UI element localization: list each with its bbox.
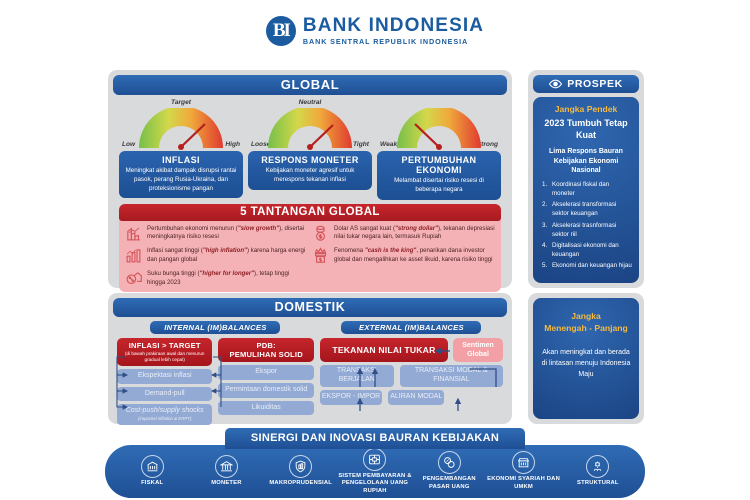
jangka-menengah-desc: Akan meningkat dan berada di lintasan me… — [541, 348, 631, 381]
challenges-grid: Pertumbuhan ekonomi menurun ("slow growt… — [119, 221, 501, 288]
pillar-label: PENGEMBANGAN PASAR UANG — [412, 476, 486, 491]
prospek-title-bar: PROSPEK — [533, 75, 639, 93]
sinergi-section: SINERGI DAN INOVASI BAURAN KEBIJAKAN FIS… — [105, 428, 645, 498]
jangka-menengah-label: Jangka Menengah - Panjang — [541, 310, 631, 334]
coins-percent-icon — [438, 451, 461, 474]
pillar-struktural[interactable]: STRUKTURAL — [561, 455, 635, 488]
domestik-section-title: DOMESTIK — [113, 298, 507, 317]
list-item: 4.Digitalisasi ekonomi dan keuangan — [542, 242, 633, 260]
gauge-pertumbuhan-ekonomi: Weak Strong PERTUMBUHAN EKONOMI Melambat… — [377, 98, 501, 200]
prospek-short-term-card: Jangka Pendek 2023 Tumbuh Tetap Kuat Lim… — [533, 97, 639, 283]
jangka-pendek-sub: Lima Respons Bauran Kebijakan Ekonomi Na… — [539, 147, 633, 175]
challenge-text: Dolar AS sangat kuat ("strong dollar"), … — [334, 225, 495, 243]
pillar-label: MONETER — [211, 480, 241, 488]
inflasi-target-title: INFLASI > TARGET — [120, 341, 209, 350]
challenge-item: Fenomena "cash is the king", penarikan d… — [312, 247, 495, 265]
gauge-dial-icon — [389, 108, 489, 150]
challenge-text: Pertumbuhan ekonomi menurun ("slow growt… — [147, 225, 308, 243]
list-item: 5.Ekonomi dan keuangan hijau — [542, 262, 633, 271]
info-card-desc: Melambat disertai risiko resesi di beber… — [382, 177, 496, 195]
pillar-sistem-pembayaran[interactable]: SISTEM PEMBAYARAN & PENGELOLAAN UANG RUP… — [338, 448, 412, 496]
aliran-modal-box: ALIRAN MODAL — [388, 390, 444, 405]
list-item: 2.Akselerasi transformasi sektor keuanga… — [542, 201, 633, 219]
jangka-pendek-label: Jangka Pendek — [539, 104, 633, 114]
bank-indonesia-logo-icon: BI — [266, 16, 296, 46]
list-item: 3.Akselerasi trasnformasi sektor riil — [542, 222, 633, 240]
external-bottom-row: EKSPOR - IMPOR ALIRAN MODAL — [320, 390, 503, 405]
pillar-makroprudensial[interactable]: MAKROPRUDENSIAL — [264, 455, 338, 488]
info-card-desc: Kebijakan moneter agresif untuk merespon… — [253, 167, 367, 185]
global-challenges-panel: 5 TANTANGAN GLOBAL Pertumbuhan ekonomi m… — [119, 204, 501, 292]
driver-ekspor: Ekspor — [218, 365, 313, 380]
sentimen-global-box: Sentimen Global — [453, 338, 503, 362]
jangka-menengah-label-line1: Jangka — [541, 310, 631, 322]
gauge-top-label: Neutral — [299, 98, 322, 108]
mosque-market-icon — [512, 451, 535, 474]
pillar-ekonomi-syariah[interactable]: EKONOMI SYARIAH DAN UMKM — [486, 451, 560, 491]
external-band-label: EXTERNAL (IM)BALANCES — [341, 321, 481, 334]
internal-imbalances-group: INTERNAL (IM)BALANCES INFLASI > TARGET (… — [117, 321, 314, 425]
challenge-item: Pertumbuhan ekonomi menurun ("slow growt… — [125, 225, 308, 243]
jangka-pendek-headline: 2023 Tumbuh Tetap Kuat — [539, 117, 633, 141]
pillar-pengembangan-pasar-uang[interactable]: PENGEMBANGAN PASAR UANG — [412, 451, 486, 491]
info-card-title: PERTUMBUHAN EKONOMI — [382, 155, 496, 175]
pdb-title-line2: PEMULIHAN SOLID — [221, 350, 310, 359]
driver-demand-pull: Demand-pull — [117, 387, 212, 402]
brand-name: BANK INDONESIA — [303, 16, 484, 35]
internal-col-inflasi: INFLASI > TARGET (di bawah prakiraan awa… — [117, 338, 212, 425]
internal-col-pdb: PDB: PEMULIHAN SOLID Ekspor Permintaan d… — [218, 338, 313, 425]
prospek-title-label: PROSPEK — [567, 75, 623, 93]
driver-cost-push: Cost-push/supply shocks (imported inflat… — [117, 404, 212, 424]
jangka-menengah-panel: Jangka Menengah - Panjang Akan meningkat… — [528, 293, 644, 424]
challenge-text: Inflasi sangat tinggi ("high inflation")… — [147, 247, 308, 265]
brand-tagline: BANK SENTRAL REPUBLIK INDONESIA — [303, 37, 468, 46]
rising-bars-icon — [125, 247, 142, 264]
internal-band-label: INTERNAL (IM)BALANCES — [150, 321, 280, 334]
external-imbalances-group: EXTERNAL (IM)BALANCES TEKANAN NILAI TUKA… — [320, 321, 503, 425]
pillar-label: MAKROPRUDENSIAL — [269, 480, 332, 488]
respons-bauran-list: 1.Koordinasi fiskal dan moneter 2.Aksele… — [539, 181, 633, 272]
global-gauges: Target Low High — [113, 95, 507, 200]
pdb-box: PDB: PEMULIHAN SOLID — [218, 338, 313, 362]
challenges-title: 5 TANTANGAN GLOBAL — [119, 204, 501, 221]
pillar-fiskal[interactable]: FISKAL — [115, 455, 189, 488]
inflasi-target-box: INFLASI > TARGET (di bawah prakiraan awa… — [117, 338, 212, 366]
info-card-inflasi: INFLASI Meningkat akibat dampak disrupsi… — [119, 151, 243, 198]
jangka-menengah-card: Jangka Menengah - Panjang Akan meningkat… — [533, 298, 639, 419]
info-card-desc: Meningkat akibat dampak disrupsi rantai … — [124, 167, 238, 193]
percent-house-icon — [125, 270, 142, 287]
info-card-title: RESPONS MONETER — [253, 155, 367, 165]
shield-buildings-icon — [289, 455, 312, 478]
external-top-row: TEKANAN NILAI TUKAR Sentimen Global — [320, 338, 503, 362]
gauge-dial-icon — [260, 108, 360, 150]
global-panel: GLOBAL Target Low — [108, 70, 512, 288]
driver-ekspektasi-inflasi: Ekspektasi inflasi — [117, 369, 212, 384]
internal-columns: INFLASI > TARGET (di bawah prakiraan awa… — [117, 338, 314, 425]
declining-chart-icon — [125, 225, 142, 242]
jangka-menengah-label-line2: Menengah - Panjang — [541, 322, 631, 334]
info-card-title: INFLASI — [124, 155, 238, 165]
domestik-panel: DOMESTIK INTERNAL (IM)BALANCES INFLASI >… — [108, 293, 512, 424]
pillar-label: EKONOMI SYARIAH DAN UMKM — [486, 476, 560, 491]
challenge-item: Inflasi sangat tinggi ("high inflation")… — [125, 247, 308, 265]
driver-likuiditas: Likuiditas — [218, 401, 313, 416]
pillar-label: SISTEM PEMBAYARAN & PENGELOLAAN UANG RUP… — [338, 473, 412, 496]
prospek-panel: PROSPEK Jangka Pendek 2023 Tumbuh Tetap … — [528, 70, 644, 288]
sinergi-pillars-bar: FISKAL MONETER MAKROPRUDENSIAL — [105, 445, 645, 498]
inflasi-target-sub: (di bawah prakiraan awal dan menurun gra… — [120, 351, 209, 363]
challenge-text: Suku bunga tinggi ("higher for longer"),… — [147, 270, 308, 288]
dollar-stack-icon — [312, 225, 329, 242]
sinergi-title: SINERGI DAN INOVASI BAURAN KEBIJAKAN — [225, 428, 525, 449]
brand-header: BI BANK INDONESIA BANK SENTRAL REPUBLIK … — [0, 8, 750, 54]
external-mid-row: TRANSAKSI BERJALAN TRANSAKSI MODAL & FIN… — [320, 365, 503, 387]
challenge-item: Suku bunga tinggi ("higher for longer"),… — [125, 270, 308, 288]
payment-chip-icon — [363, 448, 386, 471]
transaksi-modal-finansial-box: TRANSAKSI MODAL & FINANSIAL — [400, 365, 503, 387]
info-card-pertumbuhan: PERTUMBUHAN EKONOMI Melambat disertai ri… — [377, 151, 501, 200]
pillar-label: FISKAL — [141, 480, 163, 488]
pillar-label: STRUKTURAL — [577, 480, 619, 488]
info-card-respons-moneter: RESPONS MONETER Kebijakan moneter agresi… — [248, 151, 372, 190]
tekanan-nilai-tukar-box: TEKANAN NILAI TUKAR — [320, 338, 448, 362]
driver-cost-push-sub: (imported inflation & ERPT) — [119, 416, 210, 422]
gauge-inflasi: Target Low High — [119, 98, 243, 200]
ekspor-impor-box: EKSPOR - IMPOR — [320, 390, 382, 405]
eye-icon — [549, 79, 562, 89]
challenges-col-left: Pertumbuhan ekonomi menurun ("slow growt… — [125, 225, 308, 288]
gauge-dial-icon — [131, 108, 231, 150]
brand-text: BANK INDONESIA BANK SENTRAL REPUBLIK IND… — [303, 16, 484, 46]
pillar-moneter[interactable]: MONETER — [189, 455, 263, 488]
gauge-respons-moneter: Neutral Loose Tight — [248, 98, 372, 200]
cash-king-icon — [312, 247, 329, 264]
pdb-title-line1: PDB: — [221, 341, 310, 350]
domestik-body: INTERNAL (IM)BALANCES INFLASI > TARGET (… — [113, 317, 507, 425]
transaksi-berjalan-box: TRANSAKSI BERJALAN — [320, 365, 394, 387]
challenges-col-right: Dolar AS sangat kuat ("strong dollar"), … — [312, 225, 495, 288]
classical-bank-icon — [215, 455, 238, 478]
challenge-text: Fenomena "cash is the king", penarikan d… — [334, 247, 495, 265]
global-section-title: GLOBAL — [113, 75, 507, 95]
challenge-item: Dolar AS sangat kuat ("strong dollar"), … — [312, 225, 495, 243]
driver-permintaan-domestik: Permintaan domestik solid — [218, 383, 313, 398]
gauge-top-label: Target — [171, 98, 191, 108]
bank-building-icon — [141, 455, 164, 478]
gear-network-icon — [586, 455, 609, 478]
list-item: 1.Koordinasi fiskal dan moneter — [542, 181, 633, 199]
